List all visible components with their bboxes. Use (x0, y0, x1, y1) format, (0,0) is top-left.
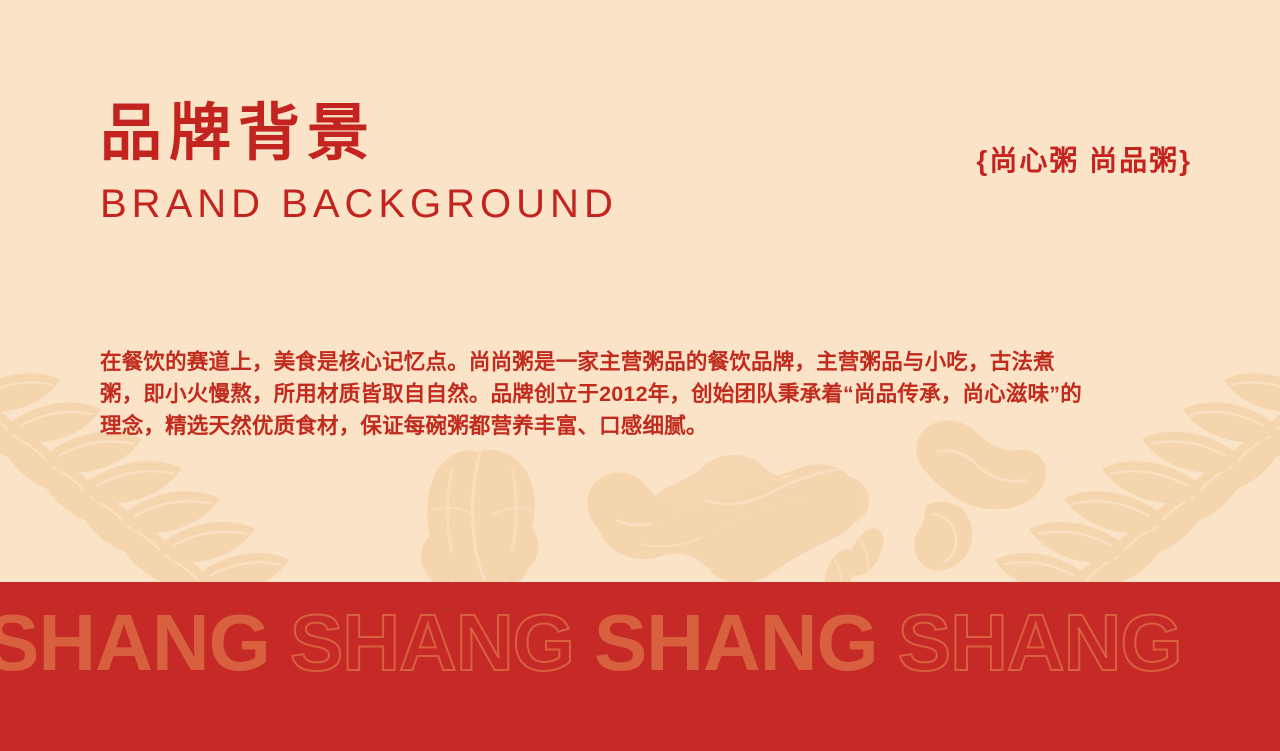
peanut-shell-upper-icon (649, 455, 869, 567)
brand-tagline: {尚心粥 尚品粥} (976, 142, 1192, 180)
seed-tiny-icon (774, 542, 797, 561)
peanut-shell-icon (587, 464, 859, 583)
brand-description: 在餐饮的赛道上，美食是核心记忆点。尚尚粥是一家主营粥品的餐饮品牌，主营粥品与小吃… (100, 346, 1182, 442)
page-title-en: BRAND BACKGROUND (100, 180, 800, 228)
brand-background-slide: 品牌背景 BRAND BACKGROUND {尚心粥 尚品粥} 在餐饮的赛道上，… (0, 0, 1280, 751)
banner-word: SHANG (0, 603, 270, 683)
banner-wordmark-row: SHANG SHANG SHANG SHANG (0, 604, 1280, 682)
page-title-cn: 品牌背景 (100, 96, 800, 172)
banner-word: SHANG (594, 603, 878, 683)
page-header: 品牌背景 BRAND BACKGROUND (100, 96, 800, 228)
bottom-banner: SHANG SHANG SHANG SHANG (0, 582, 1280, 751)
banner-word: SHANG (290, 603, 574, 683)
description-line: 粥，即小火慢熬，所用材质皆取自自然。品牌创立于2012年，创始团队秉承着“尚品传… (100, 378, 1182, 410)
seed-small-upper-icon (841, 522, 890, 581)
description-line: 在餐饮的赛道上，美食是核心记忆点。尚尚粥是一家主营粥品的餐饮品牌，主营粥品与小吃… (100, 346, 1182, 378)
description-line: 理念，精选天然优质食材，保证每碗粥都营养丰富、口感细腻。 (100, 410, 1182, 442)
banner-word: SHANG (898, 603, 1182, 683)
walnut-kernel-icon (421, 450, 538, 589)
cashew-nut-left-icon (914, 502, 972, 571)
